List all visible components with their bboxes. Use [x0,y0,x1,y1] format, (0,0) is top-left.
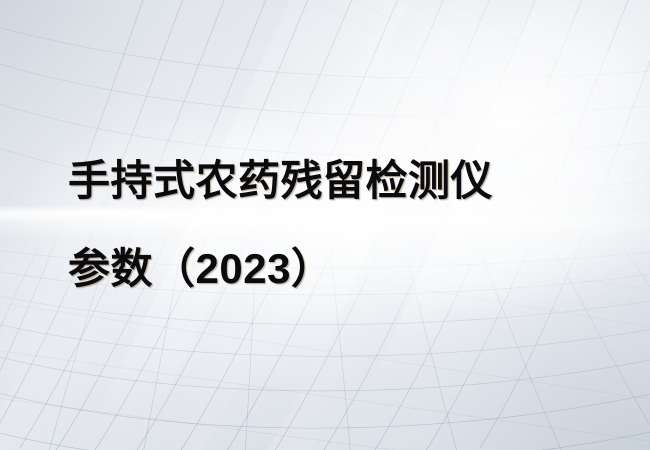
title-line-secondary: 参数（2023） [68,247,650,291]
title-block: 手持式农药残留检测仪 参数（2023） [0,0,650,450]
title-line-primary: 手持式农药残留检测仪 [68,159,650,203]
title-banner: 手持式农药残留检测仪 参数（2023） [0,0,650,450]
